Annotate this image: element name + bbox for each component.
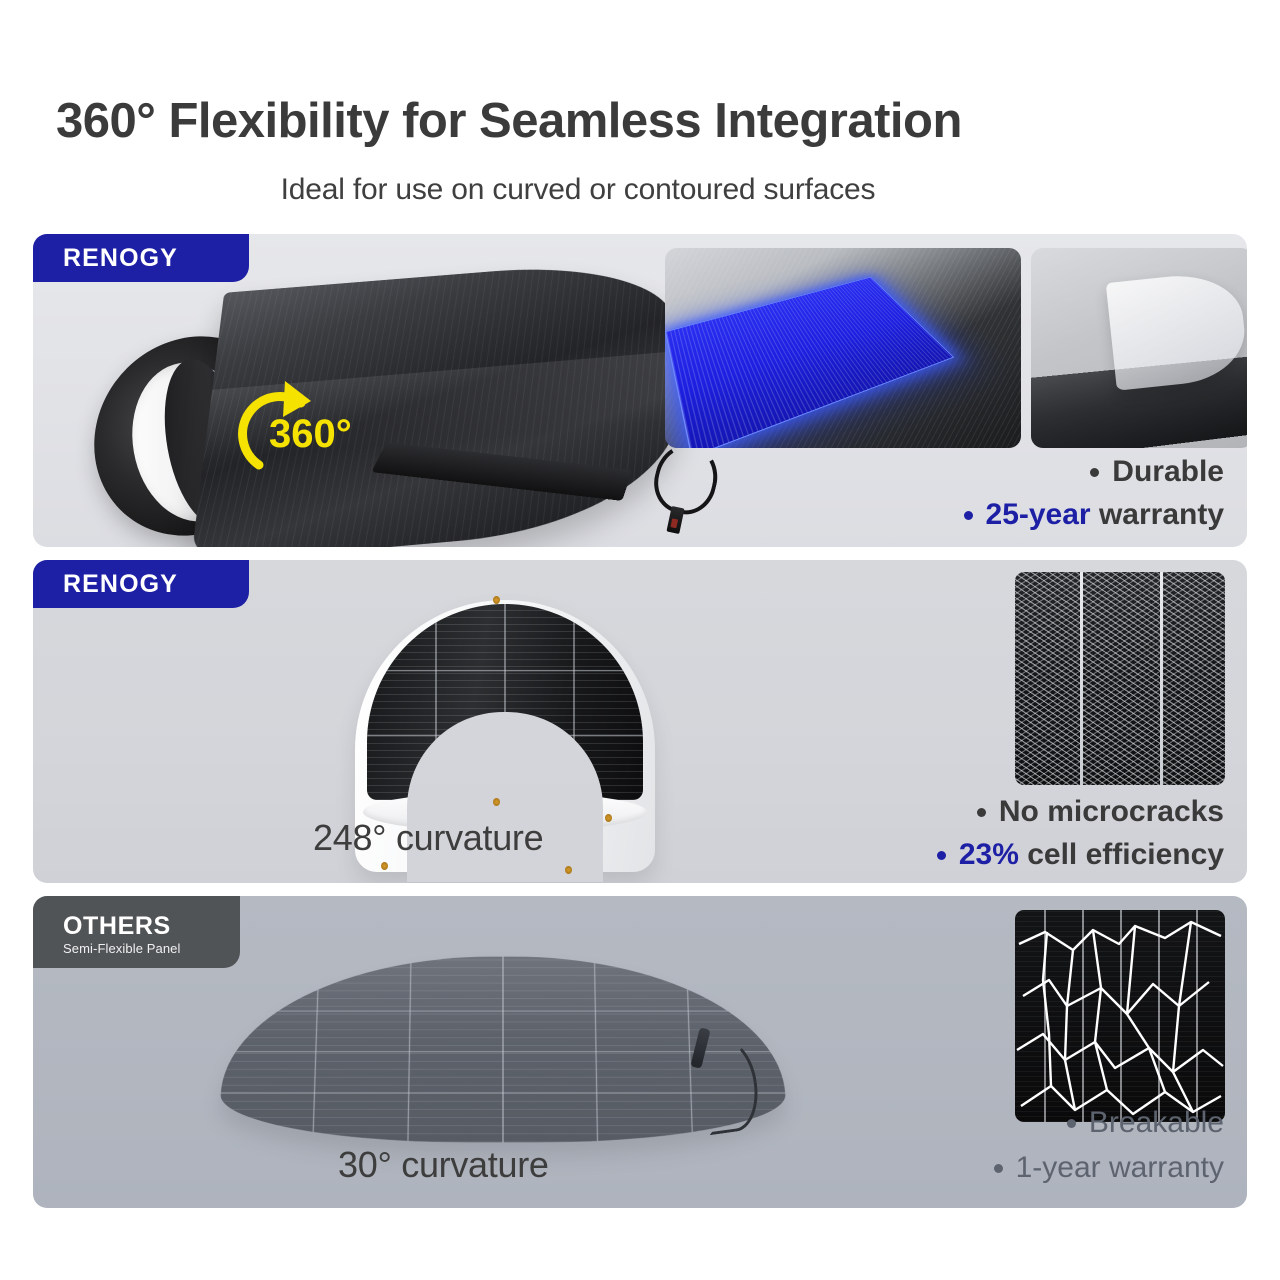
brand-badge-title: RENOGY: [63, 570, 223, 599]
feature-text: Durable: [1112, 454, 1224, 491]
panel-others-30: OTHERS Semi-Flexible Panel 30° curvature: [33, 896, 1247, 1208]
feature-accent: 23%: [959, 838, 1019, 871]
detail-photo-film-peel: [1031, 248, 1247, 448]
brand-badge-subtitle: Semi-Flexible Panel: [63, 941, 214, 956]
feature-list-renogy-248: No microcracks 23% cell efficiency: [937, 794, 1224, 873]
curvature-caption: 248° curvature: [313, 817, 543, 859]
feature-rest: warranty: [1091, 498, 1224, 531]
feature-text: 25-year warranty: [986, 497, 1224, 534]
header: 360° Flexibility for Seamless Integratio…: [0, 0, 1280, 207]
bullet-dot-icon: [1090, 468, 1099, 477]
bullet-dot-icon: [1067, 1119, 1076, 1128]
feature-list-others: Breakable 1-year warranty: [994, 1105, 1224, 1186]
busbar-line: [1080, 572, 1083, 785]
brand-badge-title: OTHERS: [63, 913, 214, 939]
bullet-dot-icon: [937, 851, 946, 860]
feature-rest: cell efficiency: [1019, 838, 1224, 871]
feature-text: Breakable: [1089, 1105, 1224, 1142]
list-item: No microcracks: [977, 794, 1224, 831]
brand-badge-title: RENOGY: [63, 244, 223, 273]
brand-badge-renogy: RENOGY: [33, 560, 249, 608]
curvature-caption: 30° curvature: [338, 1144, 549, 1186]
bullet-dot-icon: [994, 1164, 1003, 1173]
microcrack-lines: [1015, 910, 1225, 1122]
brand-badge-others: OTHERS Semi-Flexible Panel: [33, 896, 240, 968]
page-subtitle: Ideal for use on curved or contoured sur…: [56, 173, 1240, 207]
feature-text: 1-year warranty: [1016, 1150, 1224, 1187]
rolled-solar-panel-illustration: 360°: [59, 258, 699, 547]
list-item: Breakable: [1067, 1105, 1224, 1142]
rotation-360-label: 360°: [269, 412, 352, 456]
list-item: 23% cell efficiency: [937, 837, 1224, 874]
bullet-dot-icon: [977, 808, 986, 817]
feature-text: 23% cell efficiency: [959, 837, 1224, 874]
rotation-360-icon: 360°: [227, 373, 359, 485]
list-item: 25-year warranty: [964, 497, 1224, 534]
detail-photo-cell-closeup: [665, 248, 1021, 448]
feature-text: No microcracks: [999, 794, 1224, 831]
feature-accent: 25-year: [986, 498, 1091, 531]
busbar-line: [1160, 572, 1163, 785]
page-title: 360° Flexibility for Seamless Integratio…: [56, 96, 1240, 147]
feature-list-renogy-360: Durable 25-year warranty: [964, 454, 1224, 533]
panel-renogy-360: RENOGY 360°: [33, 234, 1247, 547]
comparison-panels: RENOGY 360°: [0, 234, 1280, 1208]
bullet-dot-icon: [964, 511, 973, 520]
detail-photo-intact-cell: [1015, 572, 1225, 785]
panel-renogy-248: RENOGY 248° curvature No microcracks: [33, 560, 1247, 883]
list-item: Durable: [1090, 454, 1224, 491]
list-item: 1-year warranty: [994, 1150, 1224, 1187]
brand-badge-renogy: RENOGY: [33, 234, 249, 282]
detail-photo-cracked-cell: [1015, 910, 1225, 1122]
